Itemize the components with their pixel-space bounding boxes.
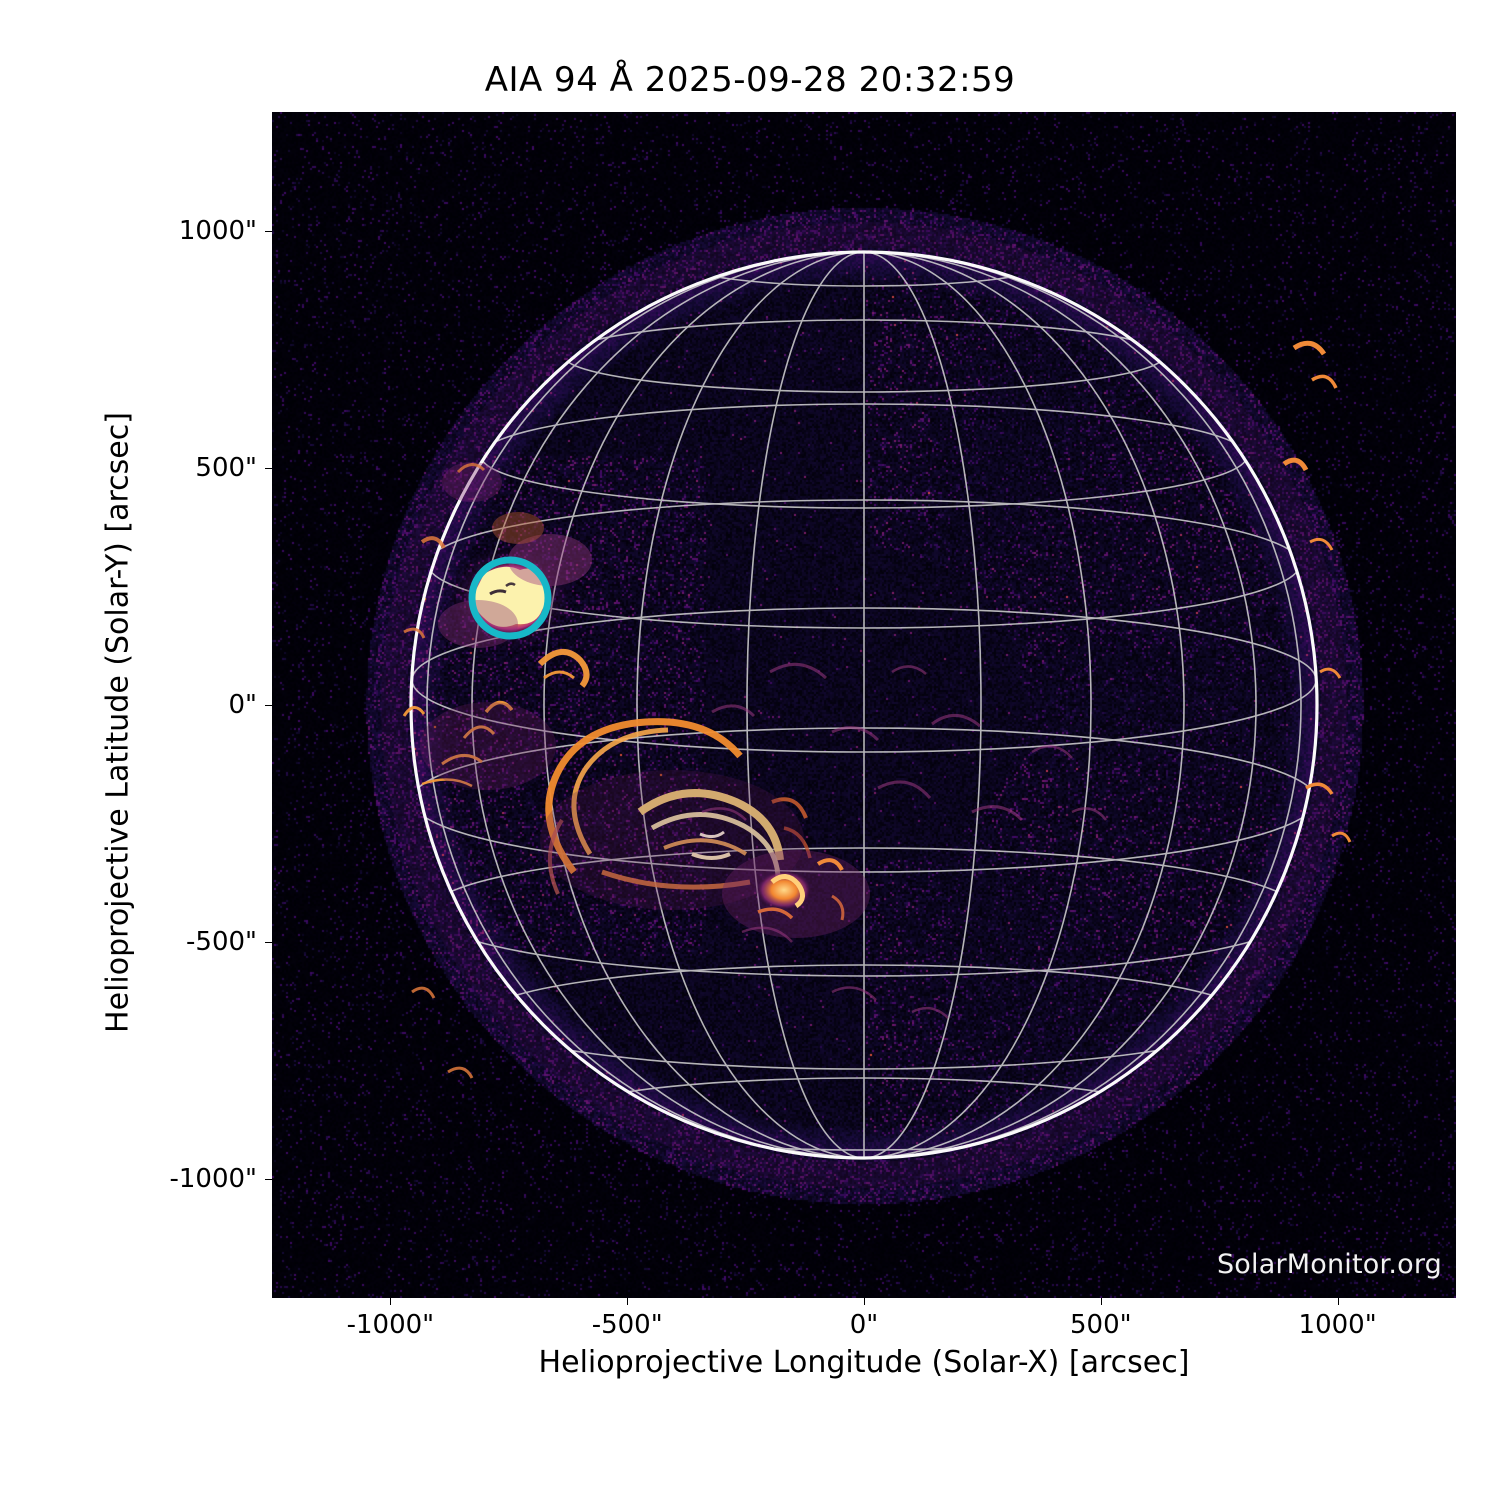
x-tick-mark bbox=[864, 1298, 865, 1305]
solar-disk-overlay bbox=[272, 112, 1456, 1298]
plage-upper bbox=[492, 512, 544, 544]
watermark-label: SolarMonitor.org bbox=[1217, 1249, 1442, 1280]
x-tick-mark bbox=[1101, 1298, 1102, 1305]
y-tick-mark bbox=[265, 231, 272, 232]
y-tick-mark bbox=[265, 705, 272, 706]
x-tick-label: 500" bbox=[1070, 1310, 1132, 1340]
solar-image-plot-area[interactable]: SolarMonitor.org bbox=[272, 112, 1456, 1298]
faint-region-northeast bbox=[442, 462, 502, 502]
x-tick-label: -500" bbox=[592, 1310, 663, 1340]
page-title: AIA 94 Å 2025-09-28 20:32:59 bbox=[0, 60, 1500, 100]
y-axis-label: Helioprojective Latitude (Solar-Y) [arcs… bbox=[101, 223, 136, 1223]
x-tick-label: 1000" bbox=[1299, 1310, 1377, 1340]
active-region-east-halo bbox=[420, 702, 556, 790]
x-tick-mark bbox=[390, 1298, 391, 1305]
coronal-features bbox=[404, 343, 1350, 1078]
y-tick-mark bbox=[265, 468, 272, 469]
x-tick-label: 0" bbox=[850, 1310, 879, 1340]
solar-image-figure: AIA 94 Å 2025-09-28 20:32:59 bbox=[0, 0, 1500, 1500]
x-tick-mark bbox=[627, 1298, 628, 1305]
y-tick-mark bbox=[265, 942, 272, 943]
x-tick-label: -1000" bbox=[347, 1310, 435, 1340]
x-axis-label: Helioprojective Longitude (Solar-X) [arc… bbox=[272, 1345, 1456, 1380]
active-region-southwest bbox=[722, 850, 870, 938]
x-tick-mark bbox=[1338, 1298, 1339, 1305]
y-tick-mark bbox=[265, 1179, 272, 1180]
